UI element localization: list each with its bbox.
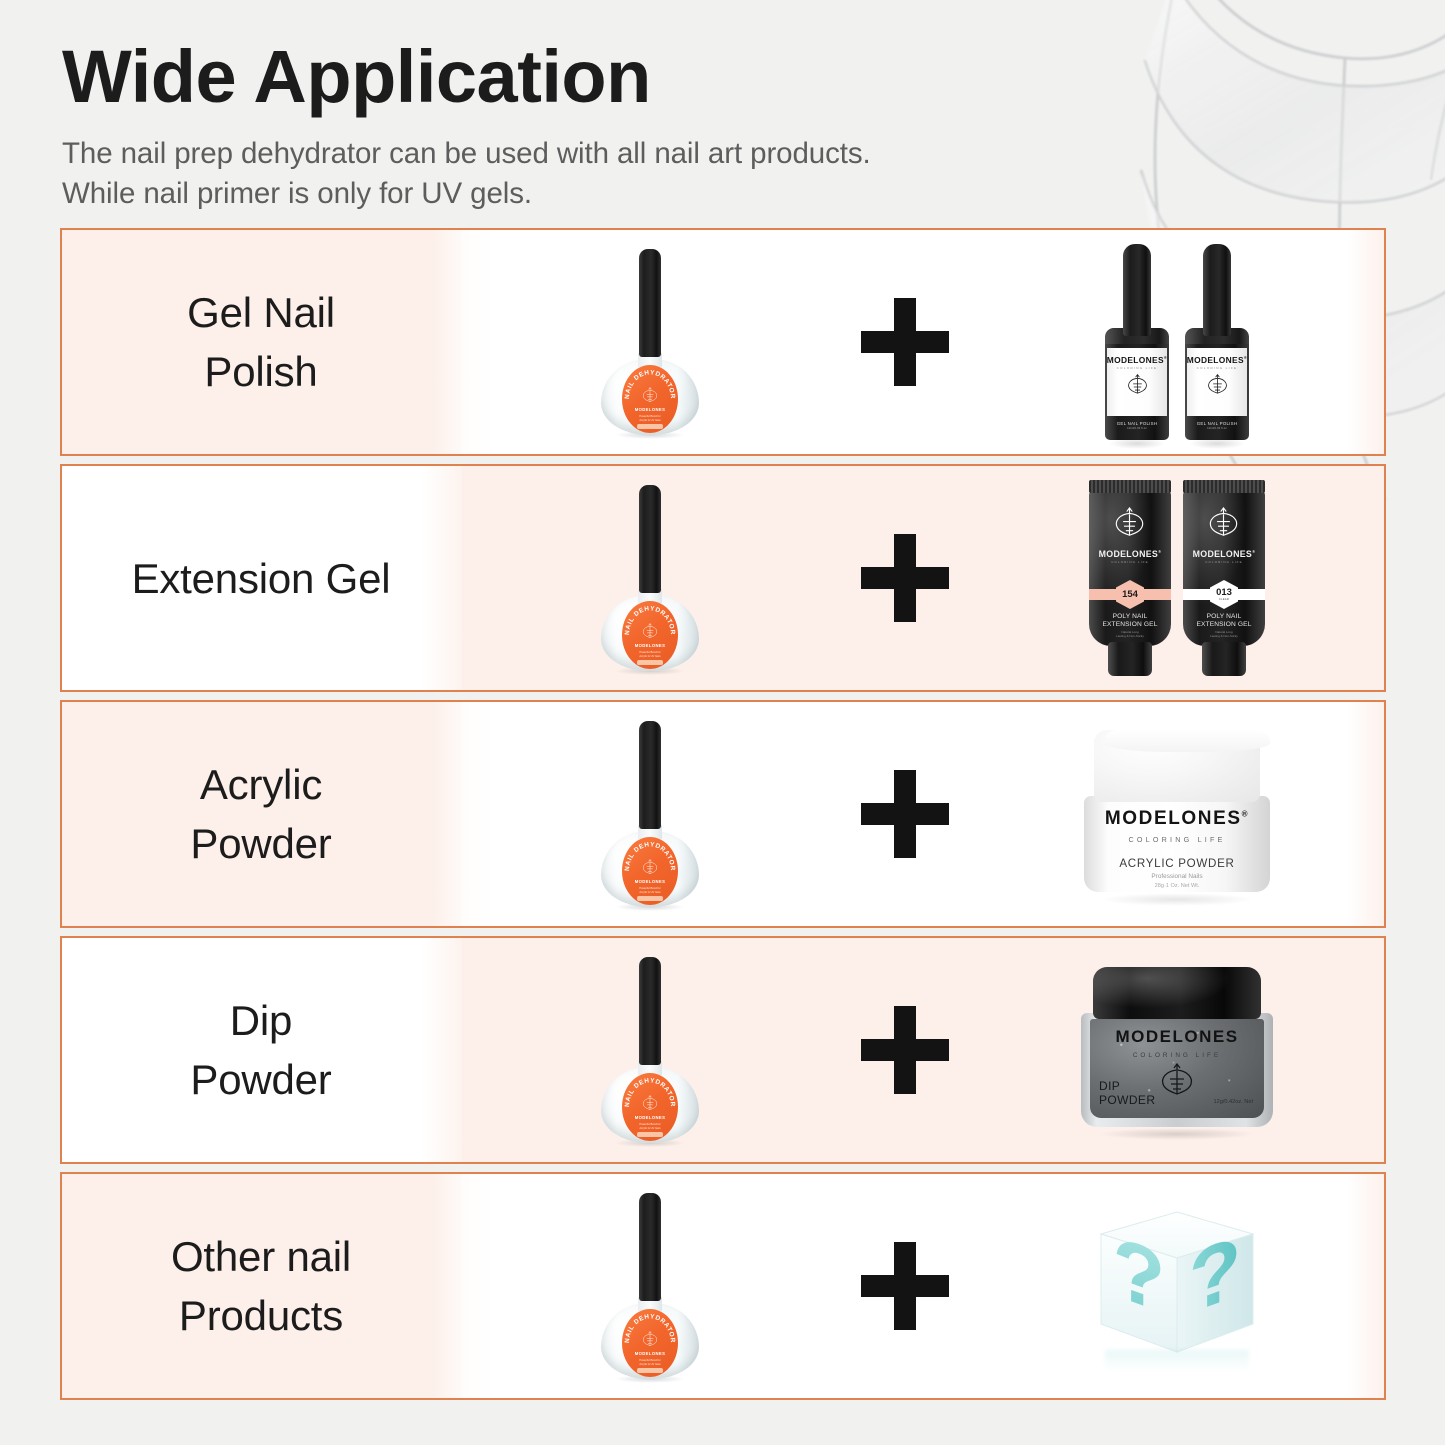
bee-logo-icon bbox=[642, 1095, 658, 1112]
row-label-cell: Extension Gel bbox=[62, 466, 460, 690]
extension-gel-tube: MODELONES®COLORING LIFE154POLY NAILEXTEN… bbox=[1086, 480, 1174, 676]
table-row: Dip PowderNAIL DEHYDRATORMODELONESPowerf… bbox=[60, 936, 1386, 1164]
row-products-cell: NAIL DEHYDRATORMODELONESPowerful Bond fo… bbox=[460, 1174, 1384, 1398]
plus-slot bbox=[840, 1006, 970, 1094]
plus-icon bbox=[861, 770, 949, 858]
dehydrator-label: NAIL DEHYDRATORMODELONESPowerful Bond fo… bbox=[622, 1309, 678, 1377]
label-swatch bbox=[637, 424, 663, 429]
row-label: Dip Powder bbox=[190, 991, 331, 1109]
bee-logo-icon bbox=[1208, 507, 1239, 540]
brand-tagline: COLORING LIFE bbox=[1084, 835, 1270, 844]
bee-logo-icon bbox=[1114, 507, 1145, 540]
bee-logo-icon bbox=[1127, 374, 1148, 396]
product-slot: MODELONES®COLORING LIFEGEL NAIL POLISH10… bbox=[970, 244, 1384, 440]
bee-logo-icon bbox=[1160, 1063, 1194, 1099]
nail-dehydrator-bottle: NAIL DEHYDRATORMODELONESPowerful Bond fo… bbox=[601, 485, 699, 671]
bottle-cap bbox=[639, 249, 661, 357]
product-tagline: Professional Nails bbox=[1084, 873, 1270, 880]
plus-slot bbox=[840, 1242, 970, 1330]
label-swatch bbox=[637, 1132, 663, 1137]
row-label: Acrylic Powder bbox=[190, 755, 331, 873]
dehydrator-label: NAIL DEHYDRATORMODELONESPowerful Bond fo… bbox=[622, 837, 678, 905]
bottle-label: MODELONES®COLORING LIFE bbox=[1107, 348, 1167, 416]
nail-dehydrator-bottle: NAIL DEHYDRATORMODELONESPowerful Bond fo… bbox=[601, 721, 699, 907]
product-description: Natural LongLasting & Non-Sticky bbox=[1089, 630, 1171, 638]
plus-icon bbox=[861, 534, 949, 622]
nail-dehydrator-bottle: NAIL DEHYDRATORMODELONESPowerful Bond fo… bbox=[601, 957, 699, 1143]
bottle-cap bbox=[639, 485, 661, 593]
row-label-cell: Other nail Products bbox=[62, 1174, 460, 1398]
dehydrator-label: NAIL DEHYDRATORMODELONESPowerful Bond fo… bbox=[622, 365, 678, 433]
plus-icon bbox=[861, 1242, 949, 1330]
tube-cap bbox=[1108, 642, 1152, 676]
jar-reflection bbox=[1099, 1128, 1255, 1140]
tube-body: MODELONES®COLORING LIFE013CLEARPOLY NAIL… bbox=[1183, 491, 1265, 646]
dehydrator-slot: NAIL DEHYDRATORMODELONESPowerful Bond fo… bbox=[460, 721, 840, 907]
row-products-cell: NAIL DEHYDRATORMODELONESPowerful Bond fo… bbox=[460, 702, 1384, 926]
bee-logo-icon bbox=[642, 387, 658, 404]
brand-tagline: COLORING LIFE bbox=[1197, 366, 1238, 370]
row-label: Other nail Products bbox=[171, 1227, 351, 1345]
jar-lid bbox=[1094, 730, 1260, 802]
dehydrator-slot: NAIL DEHYDRATORMODELONESPowerful Bond fo… bbox=[460, 1193, 840, 1379]
plus-slot bbox=[840, 298, 970, 386]
product-name: GEL NAIL POLISH bbox=[1107, 421, 1167, 426]
bottle-cap bbox=[1123, 244, 1151, 336]
acrylic-powder-jar: MODELONES®COLORING LIFEACRYLIC POWDERPro… bbox=[1084, 730, 1270, 898]
dehydrator-slot: NAIL DEHYDRATORMODELONESPowerful Bond fo… bbox=[460, 485, 840, 671]
color-code-label: CLEAR bbox=[1219, 598, 1229, 601]
svg-text:?: ? bbox=[1189, 1217, 1242, 1332]
product-description: Natural LongLasting & Non-Sticky bbox=[1183, 630, 1265, 638]
cube-graphic: ?? bbox=[1089, 1196, 1265, 1364]
table-row: Gel Nail PolishNAIL DEHYDRATORMODELONESP… bbox=[60, 228, 1386, 456]
gel-polish-bottle: MODELONES®COLORING LIFEGEL NAIL POLISH10… bbox=[1103, 244, 1171, 440]
jar-reflection bbox=[1100, 893, 1254, 906]
table-row: Extension GelNAIL DEHYDRATORMODELONESPow… bbox=[60, 464, 1386, 692]
product-slot: MODELONES®COLORING LIFEACRYLIC POWDERPro… bbox=[970, 730, 1384, 898]
row-label-cell: Acrylic Powder bbox=[62, 702, 460, 926]
plus-slot bbox=[840, 534, 970, 622]
extension-gel-tube-pair: MODELONES®COLORING LIFE154POLY NAILEXTEN… bbox=[1086, 480, 1268, 676]
brand-tagline: COLORING LIFE bbox=[1183, 560, 1265, 564]
dehydrator-slot: NAIL DEHYDRATORMODELONESPowerful Bond fo… bbox=[460, 249, 840, 435]
label-swatch bbox=[637, 1368, 663, 1373]
product-slot: MODELONESCOLORING LIFEDIPPOWDER12g/0.42o… bbox=[970, 967, 1384, 1133]
nail-dehydrator-bottle: NAIL DEHYDRATORMODELONESPowerful Bond fo… bbox=[601, 249, 699, 435]
jar-lid bbox=[1093, 967, 1261, 1019]
brand-name: MODELONES® bbox=[1187, 353, 1247, 365]
brand-name: MODELONES® bbox=[1183, 549, 1265, 559]
plus-icon bbox=[861, 298, 949, 386]
bottle-footer: GEL NAIL POLISH10ml/0.33 fl.oz bbox=[1107, 421, 1167, 430]
dip-powder-jar: MODELONESCOLORING LIFEDIPPOWDER12g/0.42o… bbox=[1081, 967, 1273, 1133]
bottle-label: MODELONES®COLORING LIFE bbox=[1187, 348, 1247, 416]
dehydrator-slot: NAIL DEHYDRATORMODELONESPowerful Bond fo… bbox=[460, 957, 840, 1143]
product-name: POLY NAILEXTENSION GEL bbox=[1089, 613, 1171, 629]
row-label: Gel Nail Polish bbox=[187, 283, 335, 401]
product-slot: ?? bbox=[970, 1196, 1384, 1376]
row-products-cell: NAIL DEHYDRATORMODELONESPowerful Bond fo… bbox=[460, 938, 1384, 1162]
color-code: 154 bbox=[1122, 590, 1138, 600]
plus-icon bbox=[861, 1006, 949, 1094]
tube-cap bbox=[1202, 642, 1246, 676]
bee-logo-icon bbox=[642, 623, 658, 640]
bee-logo-icon bbox=[1207, 374, 1228, 396]
product-slot: MODELONES®COLORING LIFE154POLY NAILEXTEN… bbox=[970, 480, 1384, 676]
brand-name: MODELONES® bbox=[1084, 808, 1270, 830]
product-volume: 10ml/0.33 fl.oz bbox=[1187, 427, 1247, 430]
row-label-cell: Dip Powder bbox=[62, 938, 460, 1162]
dehydrator-label: NAIL DEHYDRATORMODELONESPowerful Bond fo… bbox=[622, 1073, 678, 1141]
row-label-cell: Gel Nail Polish bbox=[62, 230, 460, 454]
brand-name: MODELONES® bbox=[1089, 549, 1171, 559]
row-label: Extension Gel bbox=[132, 549, 391, 608]
product-name: ACRYLIC POWDER bbox=[1084, 857, 1270, 870]
brand-tagline: COLORING LIFE bbox=[1081, 1052, 1273, 1059]
brand-name: MODELONES® bbox=[1107, 353, 1167, 365]
product-name: DIPPOWDER bbox=[1099, 1079, 1155, 1107]
row-products-cell: NAIL DEHYDRATORMODELONESPowerful Bond fo… bbox=[460, 466, 1384, 690]
extension-gel-tube: MODELONES®COLORING LIFE013CLEARPOLY NAIL… bbox=[1180, 480, 1268, 676]
plus-slot bbox=[840, 770, 970, 858]
product-volume: 12g/0.42oz. Net bbox=[1214, 1099, 1254, 1105]
gel-polish-pair: MODELONES®COLORING LIFEGEL NAIL POLISH10… bbox=[1103, 244, 1251, 440]
wide-application-table: Gel Nail PolishNAIL DEHYDRATORMODELONESP… bbox=[60, 228, 1386, 1400]
bottle-cap bbox=[639, 721, 661, 829]
nail-dehydrator-bottle: NAIL DEHYDRATORMODELONESPowerful Bond fo… bbox=[601, 1193, 699, 1379]
row-products-cell: NAIL DEHYDRATORMODELONESPowerful Bond fo… bbox=[460, 230, 1384, 454]
svg-text:?: ? bbox=[1113, 1217, 1166, 1332]
bottle-cap bbox=[639, 957, 661, 1065]
product-name: POLY NAILEXTENSION GEL bbox=[1183, 613, 1265, 629]
mystery-cube: ?? bbox=[1089, 1196, 1265, 1376]
tube-body: MODELONES®COLORING LIFE154POLY NAILEXTEN… bbox=[1089, 491, 1171, 646]
bee-logo-icon bbox=[642, 859, 658, 876]
gel-polish-bottle: MODELONES®COLORING LIFEGEL NAIL POLISH10… bbox=[1183, 244, 1251, 440]
table-row: Other nail ProductsNAIL DEHYDRATORMODELO… bbox=[60, 1172, 1386, 1400]
table-row: Acrylic PowderNAIL DEHYDRATORMODELONESPo… bbox=[60, 700, 1386, 928]
product-volume: 28g·1 Oz. Net Wt. bbox=[1084, 883, 1270, 889]
bee-logo-icon bbox=[642, 1331, 658, 1348]
bottle-cap bbox=[639, 1193, 661, 1301]
tube-crimp bbox=[1183, 480, 1265, 493]
product-name: GEL NAIL POLISH bbox=[1187, 421, 1247, 426]
brand-tagline: COLORING LIFE bbox=[1117, 366, 1158, 370]
page-title: Wide Application bbox=[62, 34, 1182, 120]
label-swatch bbox=[637, 896, 663, 901]
dehydrator-label: NAIL DEHYDRATORMODELONESPowerful Bond fo… bbox=[622, 601, 678, 669]
bottle-footer: GEL NAIL POLISH10ml/0.33 fl.oz bbox=[1187, 421, 1247, 430]
jar-label: MODELONES®COLORING LIFEACRYLIC POWDERPro… bbox=[1084, 808, 1270, 889]
page-subtitle: The nail prep dehydrator can be used wit… bbox=[62, 134, 1182, 214]
tube-crimp bbox=[1089, 480, 1171, 493]
color-code: 013 bbox=[1216, 588, 1232, 598]
bottle-cap bbox=[1203, 244, 1231, 336]
color-code-hexagon: 013CLEAR bbox=[1210, 580, 1238, 609]
brand-tagline: COLORING LIFE bbox=[1089, 560, 1171, 564]
product-volume: 10ml/0.33 fl.oz bbox=[1107, 427, 1167, 430]
brand-name: MODELONES bbox=[1081, 1027, 1273, 1047]
cube-reflection bbox=[1105, 1350, 1249, 1376]
color-code-hexagon: 154 bbox=[1116, 580, 1144, 609]
label-swatch bbox=[637, 660, 663, 665]
jar-body: MODELONESCOLORING LIFEDIPPOWDER12g/0.42o… bbox=[1081, 1013, 1273, 1127]
page-header: Wide Application The nail prep dehydrato… bbox=[62, 34, 1182, 214]
